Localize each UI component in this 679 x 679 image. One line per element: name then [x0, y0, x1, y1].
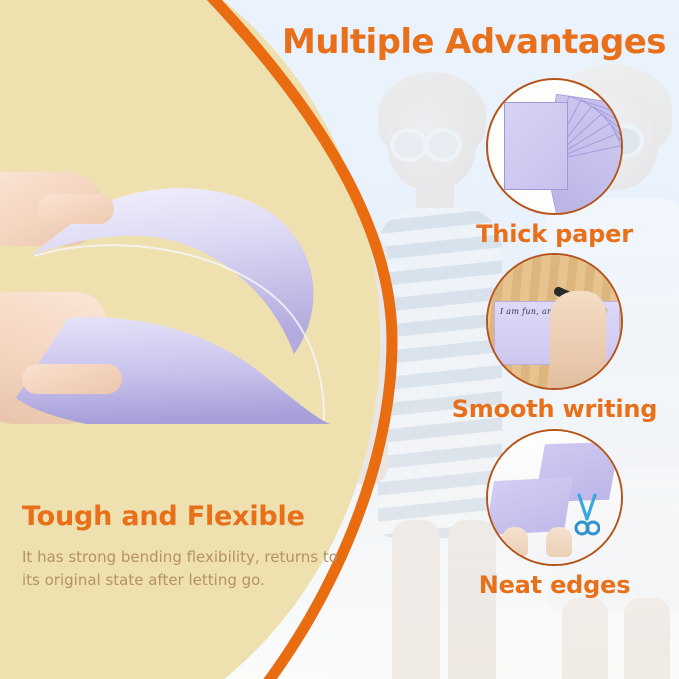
- feature-smooth-writing[interactable]: I am fun, and Smooth writing: [430, 253, 679, 422]
- feature-label-thick-paper: Thick paper: [430, 221, 679, 247]
- child-hand-left: [502, 527, 528, 557]
- finger-top: [38, 194, 114, 224]
- badge-neat-edges: [486, 429, 623, 566]
- left-body-text: It has strong bending flexibility, retur…: [22, 546, 352, 593]
- page-title: Multiple Advantages: [282, 24, 674, 61]
- product-feature-graphic: Multiple Advantages Thick paper I am fun…: [0, 0, 679, 679]
- feature-thick-paper[interactable]: Thick paper: [430, 78, 679, 247]
- badge-smooth-writing: I am fun, and: [486, 253, 623, 390]
- left-text-block: Tough and Flexible It has strong bending…: [22, 502, 352, 592]
- finger-bottom: [22, 364, 122, 394]
- left-heading: Tough and Flexible: [22, 502, 352, 532]
- feature-label-smooth-writing: Smooth writing: [430, 396, 679, 422]
- front-sheet: [504, 102, 568, 190]
- hero-bending-sheet: [0, 168, 354, 430]
- feature-list: Thick paper I am fun, and Smooth writing: [430, 78, 679, 604]
- feature-label-neat-edges: Neat edges: [430, 572, 679, 598]
- scissors-icon: [574, 489, 600, 537]
- badge-thick-paper: [486, 78, 623, 215]
- feature-neat-edges[interactable]: Neat edges: [430, 429, 679, 598]
- writing-hand: [550, 291, 606, 390]
- child-hand-right: [546, 527, 572, 557]
